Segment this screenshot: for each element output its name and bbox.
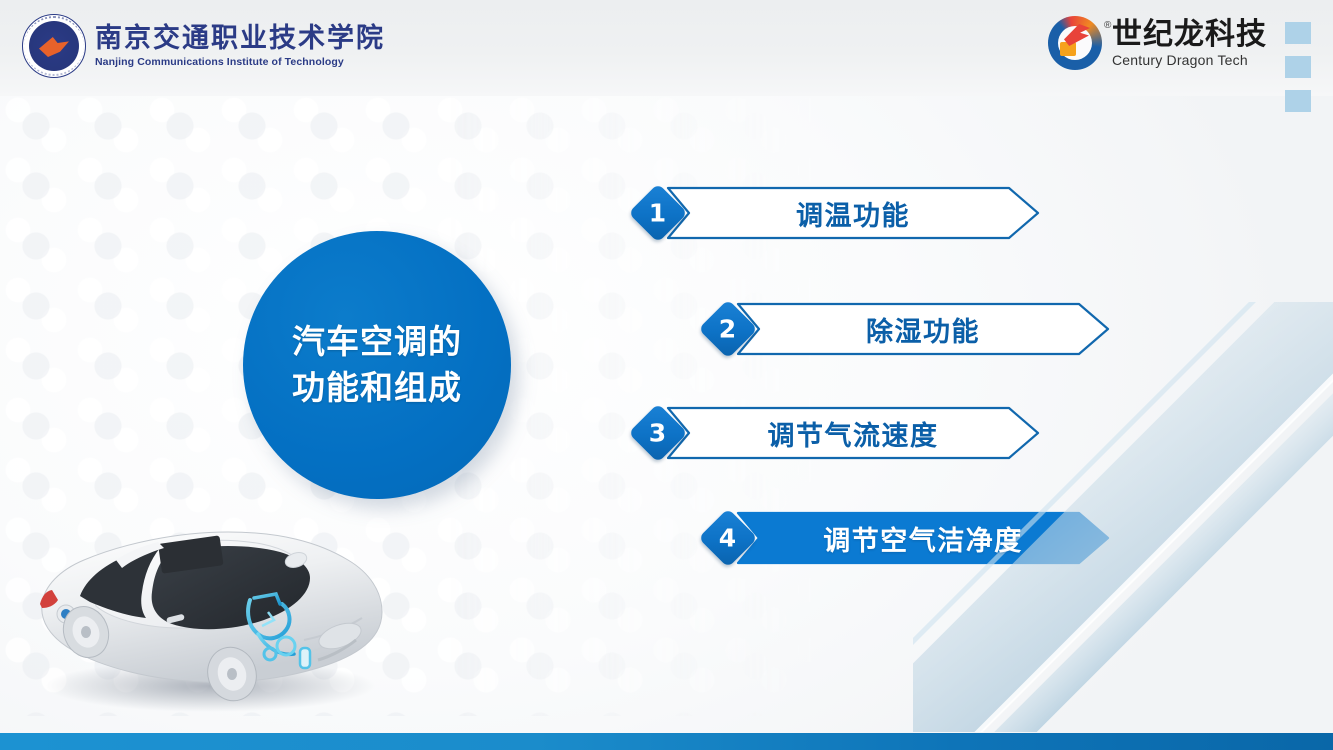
century-dragon-mark-icon: ® — [1048, 16, 1102, 70]
feature-label-2: 除湿功能 — [866, 310, 980, 349]
feature-label-4: 调节空气洁净度 — [823, 519, 1023, 558]
company-logo: ® 世纪龙科技 Century Dragon Tech — [1048, 16, 1267, 70]
university-name-en: Nanjing Communications Institute of Tech… — [95, 56, 385, 68]
feature-item-3[interactable]: 3 调节气流速度 — [637, 405, 1041, 461]
slide-header: 南京交通职业技术学院 Nanjing Communications Instit… — [0, 0, 1333, 96]
registered-mark: ® — [1104, 20, 1111, 31]
company-name-cn: 世纪龙科技 — [1112, 20, 1267, 50]
decor-square-1 — [1285, 22, 1311, 44]
bottom-accent-bar — [0, 733, 1333, 750]
presentation-slide: 南京交通职业技术学院 Nanjing Communications Instit… — [0, 0, 1333, 750]
feature-item-4[interactable]: 4 调节空气洁净度 — [707, 510, 1111, 566]
feature-label-1: 调温功能 — [796, 194, 910, 233]
university-logo: 南京交通职业技术学院 Nanjing Communications Instit… — [22, 14, 385, 78]
feature-ribbon-1: 调温功能 — [665, 185, 1041, 241]
topic-circle-title: 汽车空调的 功能和组成 — [292, 319, 462, 410]
ac-receiver-drier-icon — [300, 648, 310, 668]
feature-ribbon-2: 除湿功能 — [735, 301, 1111, 357]
car-svg — [18, 508, 398, 718]
feature-number-4: 4 — [719, 526, 736, 551]
university-seal-icon — [22, 14, 86, 78]
feature-number-2: 2 — [719, 317, 736, 342]
decor-square-2 — [1285, 56, 1311, 78]
topic-circle-body: 汽车空调的 功能和组成 — [243, 231, 511, 499]
university-name-cn: 南京交通职业技术学院 — [95, 24, 385, 54]
feature-label-3: 调节气流速度 — [768, 414, 939, 453]
feature-item-2[interactable]: 2 除湿功能 — [707, 301, 1111, 357]
topic-circle: 汽车空调的 功能和组成 — [243, 231, 519, 507]
car-illustration — [18, 508, 398, 718]
decor-square-3 — [1285, 90, 1311, 112]
feature-ribbon-3: 调节气流速度 — [665, 405, 1041, 461]
feature-item-1[interactable]: 1 调温功能 — [637, 185, 1041, 241]
feature-number-1: 1 — [649, 201, 666, 226]
decorative-square-stack — [1285, 22, 1311, 112]
company-name-en: Century Dragon Tech — [1112, 53, 1267, 67]
feature-number-3: 3 — [649, 421, 666, 446]
feature-ribbon-4: 调节空气洁净度 — [735, 510, 1111, 566]
seal-bird-icon — [39, 37, 69, 57]
